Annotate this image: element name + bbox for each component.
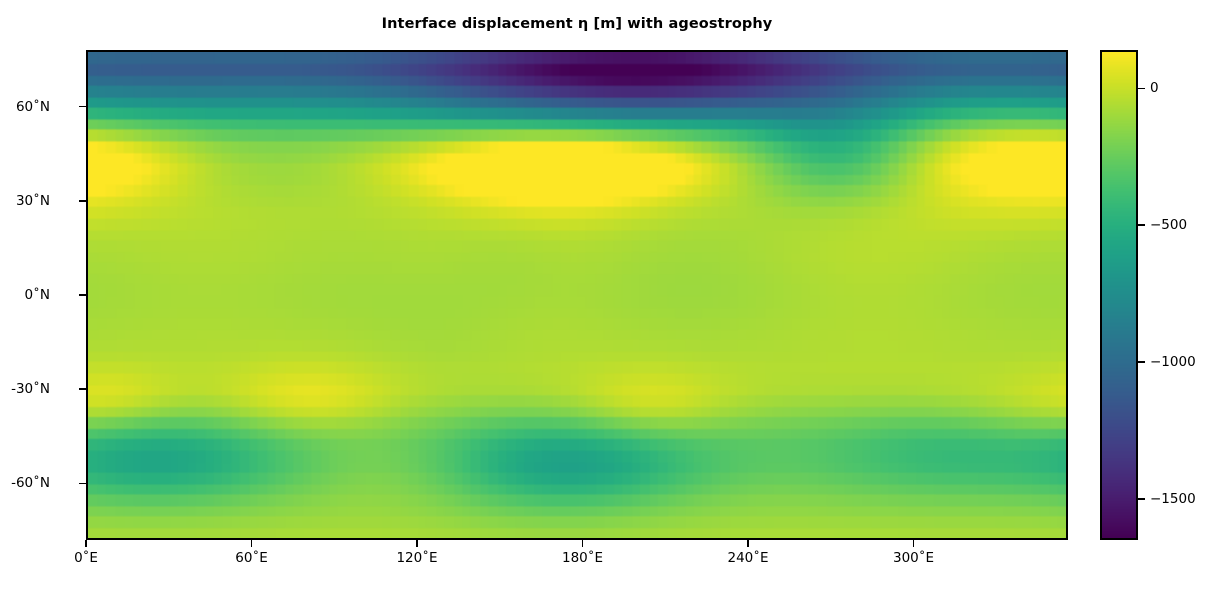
colorbar[interactable] — [1100, 50, 1138, 540]
colorbar-tick — [1138, 498, 1145, 500]
x-tick — [251, 540, 253, 547]
colorbar-tick-label: −1500 — [1150, 491, 1196, 507]
y-tick-label: 30˚N — [16, 193, 50, 209]
x-tick-label: 120˚E — [396, 550, 437, 566]
x-tick — [416, 540, 418, 547]
y-tick — [79, 388, 86, 390]
x-tick-label: 0˚E — [74, 550, 98, 566]
x-tick — [85, 540, 87, 547]
colorbar-tick-label: −1000 — [1150, 354, 1196, 370]
heatmap-axes[interactable] — [86, 50, 1068, 540]
colorbar-tick — [1138, 88, 1145, 90]
y-tick-label: -60˚N — [11, 475, 50, 491]
y-tick-label: -30˚N — [11, 381, 50, 397]
x-tick — [747, 540, 749, 547]
y-tick-label: 60˚N — [16, 99, 50, 115]
x-tick-label: 240˚E — [727, 550, 768, 566]
y-tick — [79, 200, 86, 202]
y-tick — [79, 483, 86, 485]
y-tick — [79, 294, 86, 296]
x-tick-label: 60˚E — [235, 550, 267, 566]
x-tick-label: 180˚E — [562, 550, 603, 566]
colorbar-tick — [1138, 361, 1145, 363]
x-tick-label: 300˚E — [893, 550, 934, 566]
colorbar-tick — [1138, 224, 1145, 226]
heatmap-image — [88, 52, 1066, 538]
x-tick — [913, 540, 915, 547]
figure-canvas: Interface displacement η [m] with ageost… — [0, 0, 1222, 600]
colorbar-tick-label: −500 — [1150, 217, 1187, 233]
y-tick-label: 0˚N — [25, 287, 50, 303]
y-tick — [79, 106, 86, 108]
colorbar-tick-label: 0 — [1150, 80, 1159, 96]
x-tick — [582, 540, 584, 547]
chart-title: Interface displacement η [m] with ageost… — [86, 16, 1068, 32]
